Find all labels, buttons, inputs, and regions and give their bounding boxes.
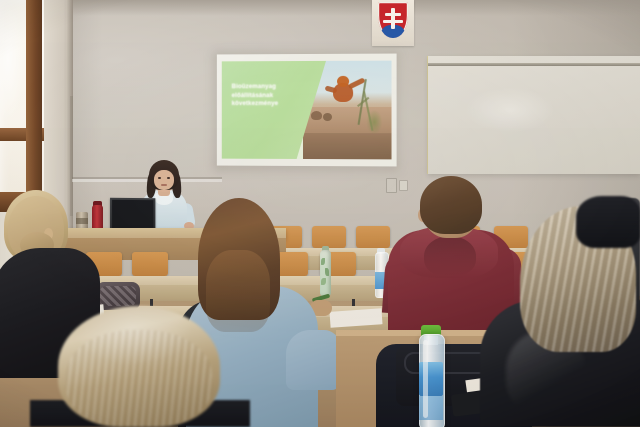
travel-mug-band (76, 218, 88, 224)
projection-screen: Bioüzemanyag előállításának következmény… (217, 54, 397, 167)
pouch-pattern (100, 286, 136, 306)
bottle-pattern-leaf (325, 268, 329, 276)
presenter-face (154, 170, 174, 190)
window-frame-right (26, 0, 42, 205)
slide-title-line-1: Bioüzemanyag (232, 83, 303, 92)
chair-back (132, 252, 168, 276)
presenter-eye-right (167, 177, 170, 179)
presenter-eye-left (158, 177, 161, 179)
window (0, 0, 44, 205)
orangutan-head (337, 76, 349, 87)
bottle-pattern-leaf (321, 258, 325, 265)
double-cross-upper-bar (385, 13, 401, 16)
slide-photo-ape-2 (311, 111, 322, 120)
hair-strand-highlight (206, 250, 270, 332)
presenter-mouth (161, 184, 167, 186)
whiteboard-top-rail (428, 63, 640, 66)
door-frame-edge (70, 96, 73, 216)
coat-of-arms-shield (378, 2, 408, 38)
laptop-screen (112, 200, 153, 228)
ceiling-band (0, 0, 640, 16)
slide-title: Bioüzemanyag előállításának következmény… (232, 83, 303, 109)
slide-photo-ape-3 (323, 113, 332, 121)
slide-title-line-3: következménye (232, 100, 303, 109)
speaker (386, 178, 397, 193)
chair-back (356, 226, 390, 248)
presentation-slide: Bioüzemanyag előállításának következmény… (222, 61, 392, 160)
bottle-pattern-leaf (321, 278, 326, 285)
slovak-coat-of-arms (372, 0, 414, 46)
power-socket (399, 180, 408, 191)
foreground-hair-strands (66, 330, 212, 427)
student-blue-top-arm (286, 330, 340, 390)
chair-back (312, 226, 346, 248)
double-cross-lower-bar (383, 20, 403, 23)
bottle-highlight (423, 340, 428, 418)
lecture-room-photo: Bioüzemanyag előállításának következmény… (0, 0, 640, 427)
student-hoodie-hair (420, 176, 482, 234)
student-right-dark-shape (576, 196, 640, 248)
hoodie-hood-shadow (424, 236, 476, 276)
slide-title-line-2: előállításának (232, 92, 303, 101)
whiteboard-glare (450, 80, 570, 140)
double-cross-vertical (391, 8, 394, 29)
